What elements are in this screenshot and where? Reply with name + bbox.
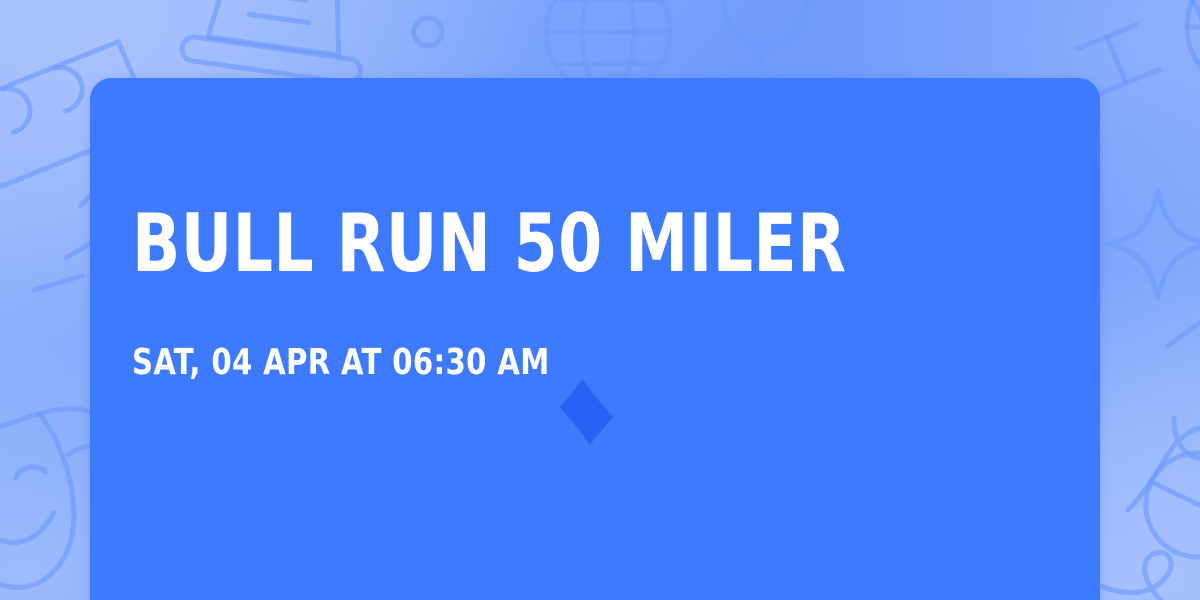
sparkle-icon <box>1150 0 1200 40</box>
confetti-icon <box>1160 300 1200 370</box>
event-datetime: Sat, 04 Apr at 06:30 AM <box>132 344 550 382</box>
balloon-icon <box>1130 430 1200 600</box>
circle-dot-icon <box>398 2 458 62</box>
event-card[interactable]: Bull Run 50 Miler Sat, 04 Apr at 06:30 A… <box>90 78 1100 600</box>
card-content: Bull Run 50 Miler Sat, 04 Apr at 06:30 A… <box>132 78 1060 600</box>
globe-icon <box>1168 0 1200 112</box>
event-title: Bull Run 50 Miler <box>132 206 846 283</box>
balloon-icon <box>690 0 840 88</box>
streamer-icon <box>1118 390 1200 550</box>
event-banner: Bull Run 50 Miler Sat, 04 Apr at 06:30 A… <box>0 0 1200 600</box>
sparkle-icon <box>1098 178 1200 308</box>
